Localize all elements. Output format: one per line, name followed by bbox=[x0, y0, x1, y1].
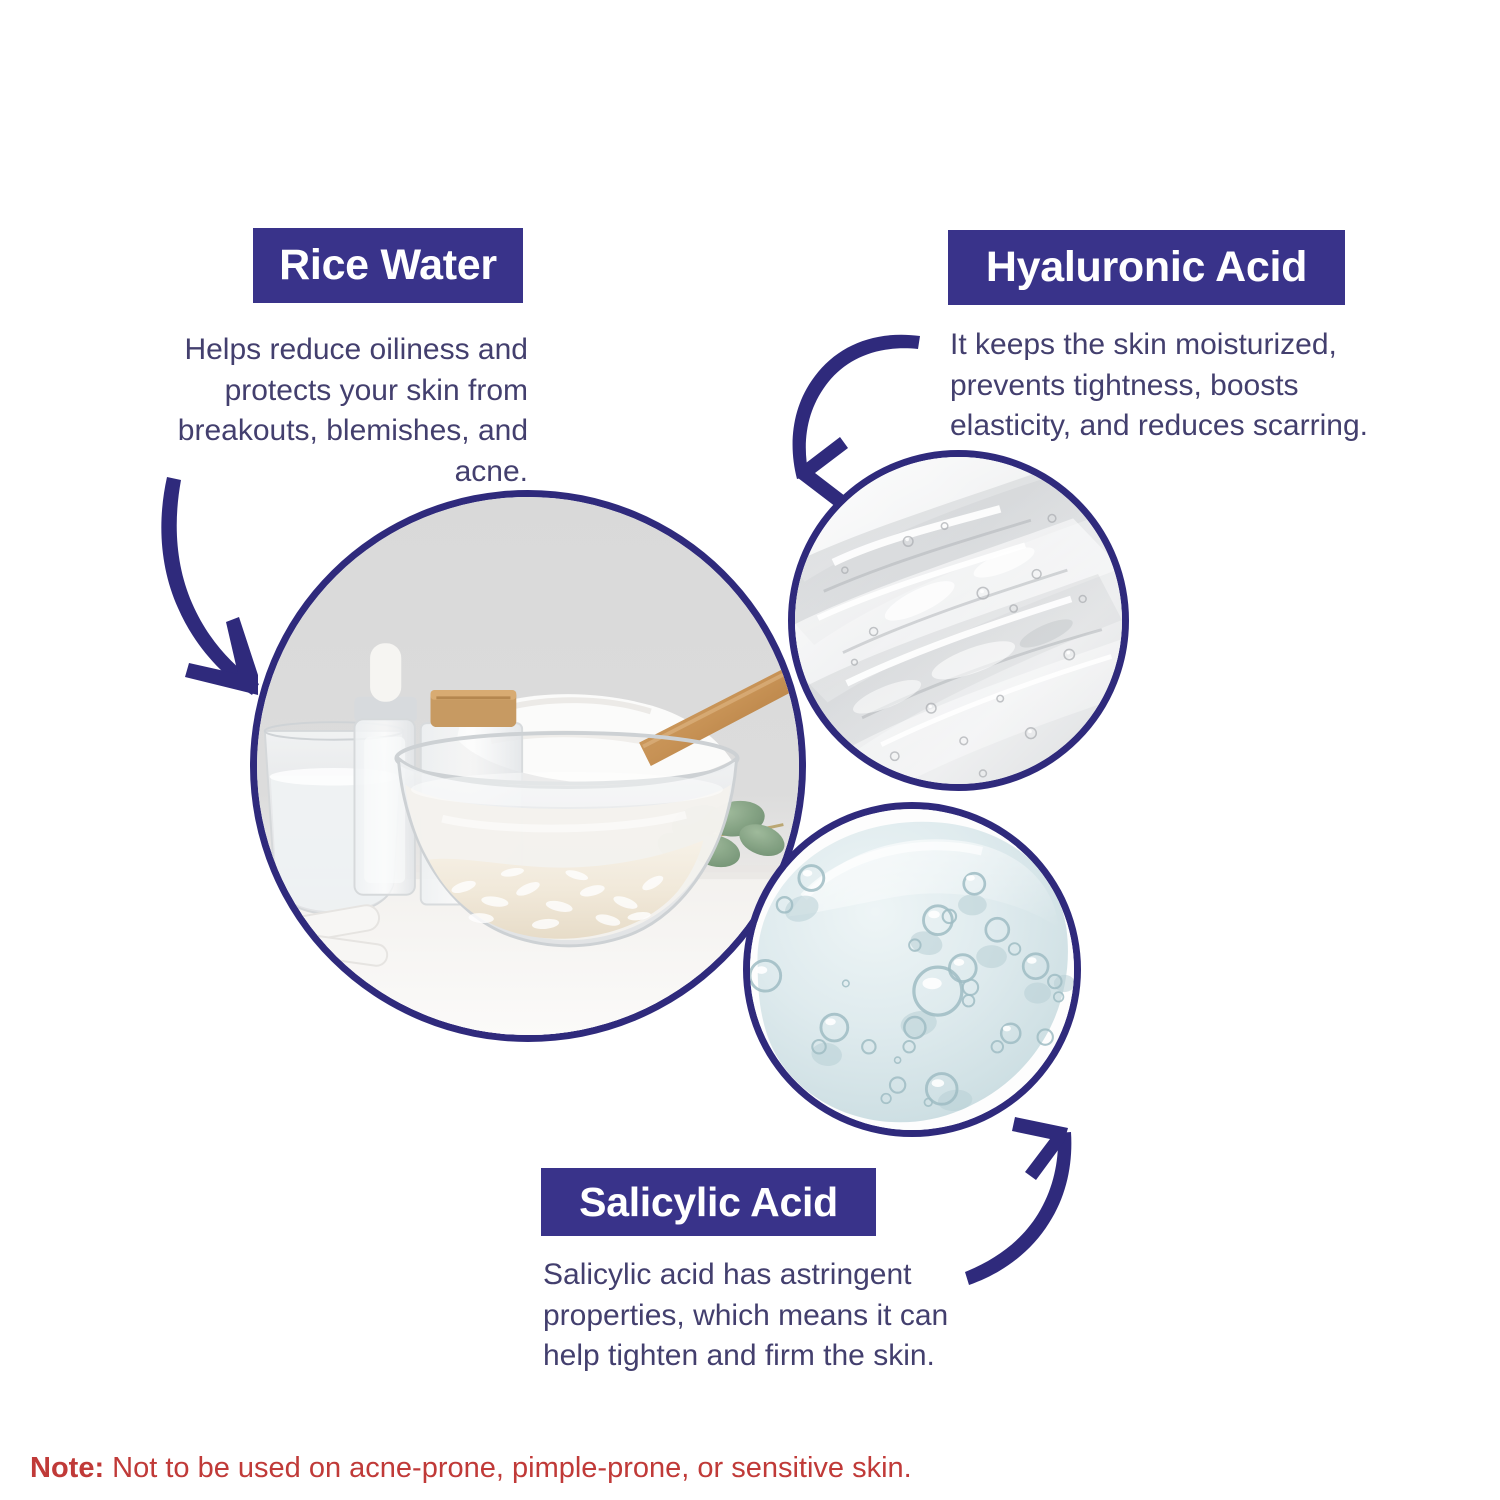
hyaluronic-gel-photo bbox=[795, 457, 1122, 784]
rice-water-photo bbox=[257, 497, 799, 1035]
badge-label: Hyaluronic Acid bbox=[986, 243, 1307, 292]
salicylic-serum-photo bbox=[750, 809, 1074, 1130]
ingredient-description-salicylic-acid: Salicylic acid has astringent properties… bbox=[543, 1255, 983, 1377]
badge-label: Rice Water bbox=[279, 241, 497, 290]
ingredient-image-salicylic-acid bbox=[743, 802, 1081, 1137]
ingredient-image-hyaluronic-acid bbox=[788, 450, 1129, 791]
ingredient-description-hyaluronic-acid: It keeps the skin moisturized, prevents … bbox=[950, 325, 1390, 447]
footer-note-text: Not to be used on acne-prone, pimple-pro… bbox=[104, 1452, 912, 1484]
ingredient-description-rice-water: Helps reduce oiliness and protects your … bbox=[160, 330, 528, 492]
ingredient-image-rice-water bbox=[250, 490, 806, 1042]
badge-label: Salicylic Acid bbox=[579, 1179, 838, 1226]
ingredient-title-badge-hyaluronic-acid: Hyaluronic Acid bbox=[948, 230, 1345, 305]
infographic-canvas: Rice Water Helps reduce oiliness and pro… bbox=[0, 0, 1500, 1500]
footer-note: Note: Not to be used on acne-prone, pimp… bbox=[30, 1452, 912, 1485]
ingredient-title-badge-rice-water: Rice Water bbox=[253, 228, 523, 303]
curved-arrow-down-right-icon bbox=[161, 477, 259, 695]
ingredient-title-badge-salicylic-acid: Salicylic Acid bbox=[541, 1168, 876, 1236]
footer-note-label: Note: bbox=[30, 1452, 104, 1484]
